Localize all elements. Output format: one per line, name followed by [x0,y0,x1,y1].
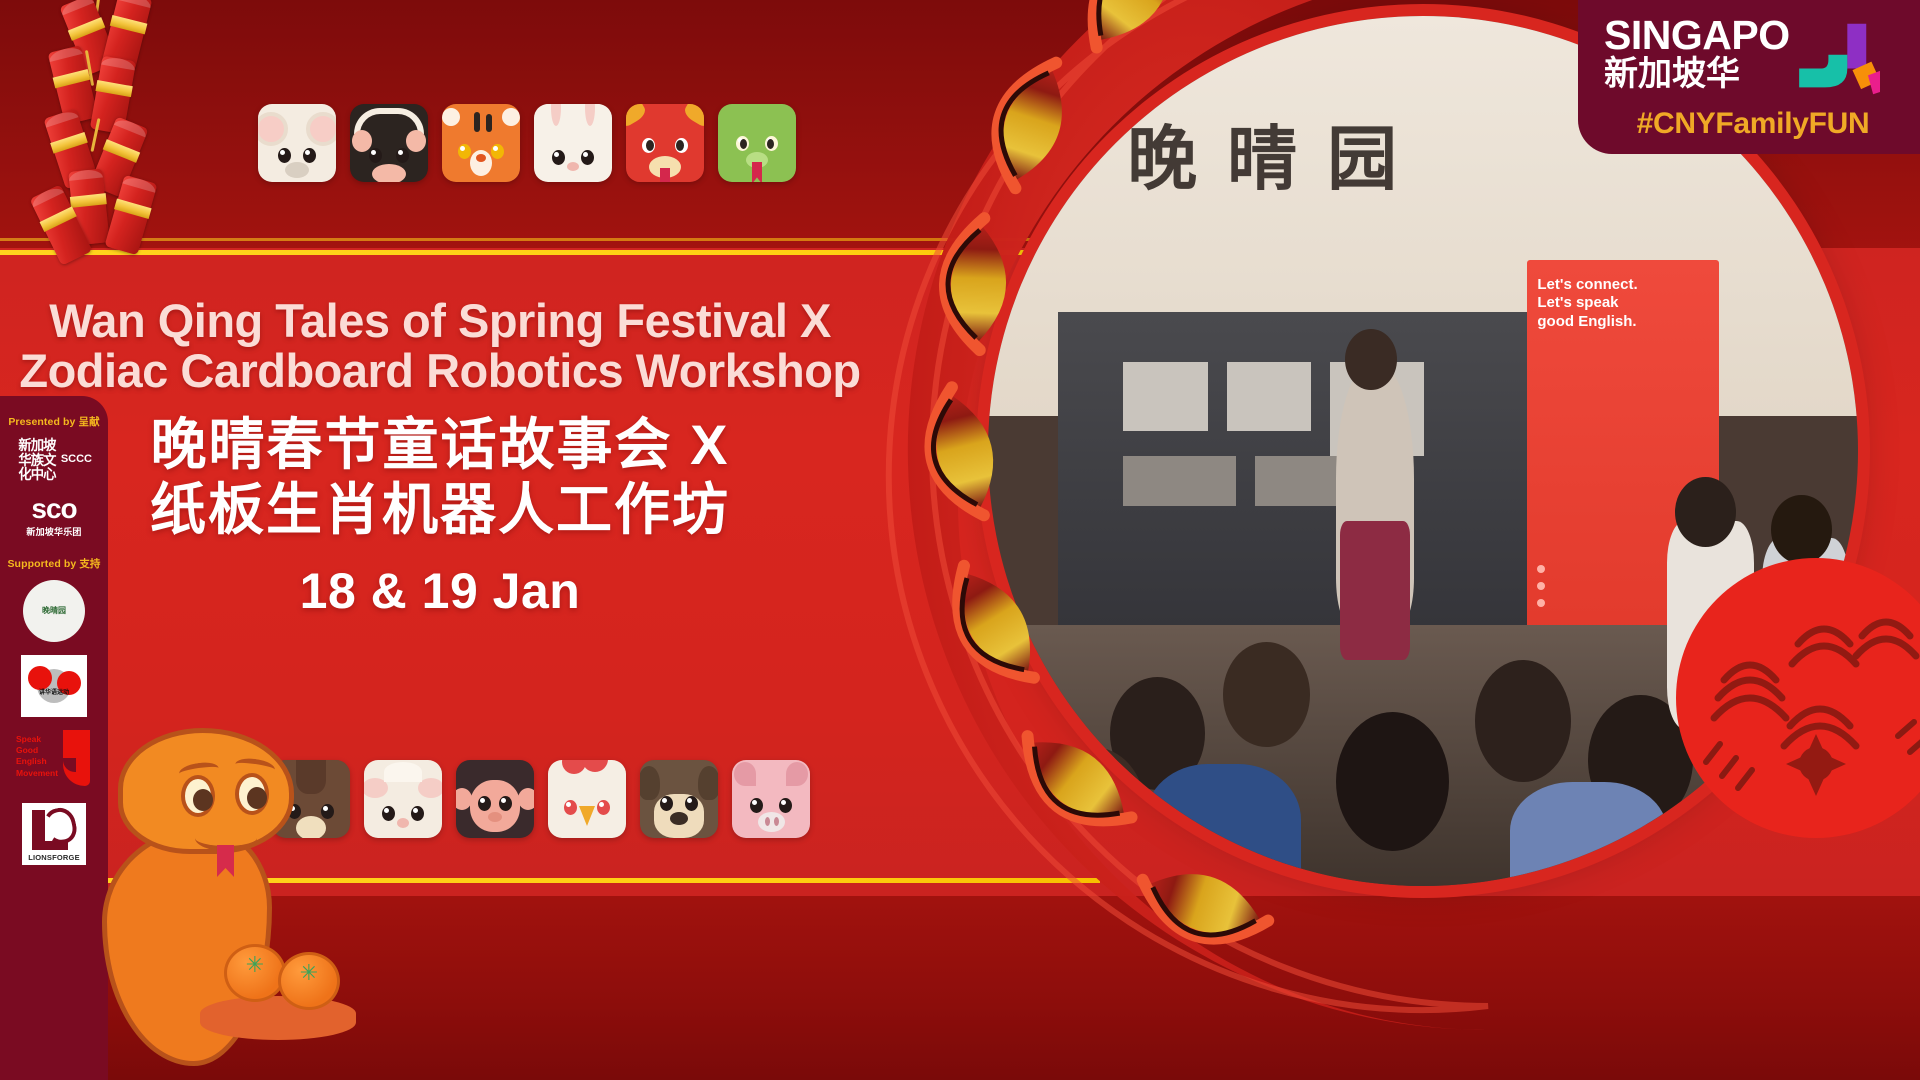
logo-sccc[interactable]: 新加坡华族文化中心 SCCC [16,438,92,482]
photo-exhibit-thumb [1123,456,1236,506]
brand-name-chinese: 新加坡华 [1604,56,1790,92]
logo-speak-good-english-movement[interactable]: Speak Good English Movement [16,730,92,790]
zodiac-icon-ox [350,104,428,182]
title-chinese-line2: 纸板生肖机器人工作坊 [0,478,880,543]
title-english-line1: Wan Qing Tales of Spring Festival X [0,296,880,346]
photo-audience-head [1223,642,1310,746]
photo-exhibit-panel [1058,312,1528,625]
sgem-wordmark: Speak Good English Movement [16,734,58,779]
singapo-swoosh-icon [1794,20,1880,98]
logo-sco-cjk: 新加坡华乐团 [14,525,94,538]
firecracker-decoration [10,0,190,252]
logo-sccc-abbr: SCCC [61,454,92,466]
sgem-j-mark [63,730,90,786]
snake-head [118,728,294,854]
logo-lionsforge[interactable]: LIONSFORGE [22,803,86,865]
lionsforge-wordmark: LIONSFORGE [28,853,80,862]
photo-speaker-head [1345,329,1397,390]
mandarin-orange-icon: ✳ [278,952,340,1010]
ssmc-red-circle-left [28,666,52,690]
sgem-line-2: Good [16,745,58,756]
logo-sun-yat-sen-nanyang-memorial-hall[interactable]: 晚晴园 [23,580,85,642]
logo-sco[interactable]: sco 新加坡华乐团 [14,495,94,538]
sgem-line-4: Movement [16,768,58,779]
photo-exhibit-thumb [1227,362,1312,431]
zodiac-icon-snake [718,104,796,182]
zodiac-icon-goat [364,760,442,838]
sponsor-sidebar: Presented by 呈献 新加坡华族文化中心 SCCC sco 新加坡华乐… [0,396,108,1080]
zodiac-icon-rabbit [534,104,612,182]
title-english: Wan Qing Tales of Spring Festival X Zodi… [0,296,880,397]
zodiac-icon-monkey [456,760,534,838]
photo-audience-head [1475,660,1571,782]
zodiac-icon-dragon [626,104,704,182]
photo-speaker-legs [1340,521,1410,660]
mandarin-orange-icon: ✳ [224,944,286,1002]
banner-social-icons [1537,565,1545,616]
zodiac-icon-dog [640,760,718,838]
title-chinese-line1: 晚晴春节童话故事会 X [0,413,880,478]
poster-canvas: Wan Qing Tales of Spring Festival X Zodi… [0,0,1920,1080]
presented-by-label: Presented by 呈献 [6,414,102,429]
banner-line-2: Let's speak [1537,294,1708,313]
photo-audience-body [1145,764,1302,886]
banner-line-1: Let's connect. [1537,276,1708,295]
photo-attendee-head [1675,477,1736,547]
photo-exhibit-thumb [1123,362,1208,431]
title-chinese: 晚晴春节童话故事会 X 纸板生肖机器人工作坊 [0,413,880,543]
banner-line-3: good English. [1537,313,1708,332]
brand-logo-panel: SINGAPO 新加坡华 #CNYFamilyFUN [1578,0,1920,154]
orange-leaf: ✳ [298,964,320,982]
zodiac-icon-rooster [548,760,626,838]
sgem-line-3: English [16,756,58,767]
snake-eye-left [181,775,215,817]
title-english-line2: Zodiac Cardboard Robotics Workshop [0,346,880,396]
orange-leaf: ✳ [244,956,266,974]
photo-calligraphy: 晚晴园 [1127,103,1427,204]
zodiac-icon-tiger [442,104,520,182]
supported-by-label: Supported by 支持 [6,556,102,571]
logo-sypl-cjk: 晚晴园 [42,607,66,616]
event-date: 18 & 19 Jan [0,562,880,620]
zodiac-icon-rat [258,104,336,182]
zodiac-icon-pig [732,760,810,838]
photo-and-arc-group: 晚晴园 Let's connect. Let's speak good Engl… [868,0,1920,1070]
brand-name-english: SINGAPO [1604,16,1790,55]
snake-mascot-illustration: ✳ ✳ [96,700,356,1080]
logo-sccc-cjk: 新加坡华族文化中心 [17,438,57,482]
photo-audience-head [1040,747,1144,869]
brand-logo-row: SINGAPO 新加坡华 [1604,16,1902,98]
snake-eye-right [235,773,269,815]
orange-tray [200,996,356,1040]
photo-audience-head [1336,712,1449,851]
zodiac-row-top [258,104,796,182]
brand-wordmark: SINGAPO 新加坡华 [1604,16,1790,92]
campaign-hashtag: #CNYFamilyFUN [1604,107,1902,141]
logo-sco-wordmark: sco [14,495,94,523]
logo-ssmc-cjk: 讲华语运动 [39,690,69,696]
photo-audience-body [1510,782,1667,886]
logo-speak-mandarin-campaign[interactable]: 讲华语运动 [21,655,87,717]
title-block: Wan Qing Tales of Spring Festival X Zodi… [0,296,880,620]
papercut-snake-medallion [1666,548,1920,848]
sgem-line-1: Speak [16,734,58,745]
